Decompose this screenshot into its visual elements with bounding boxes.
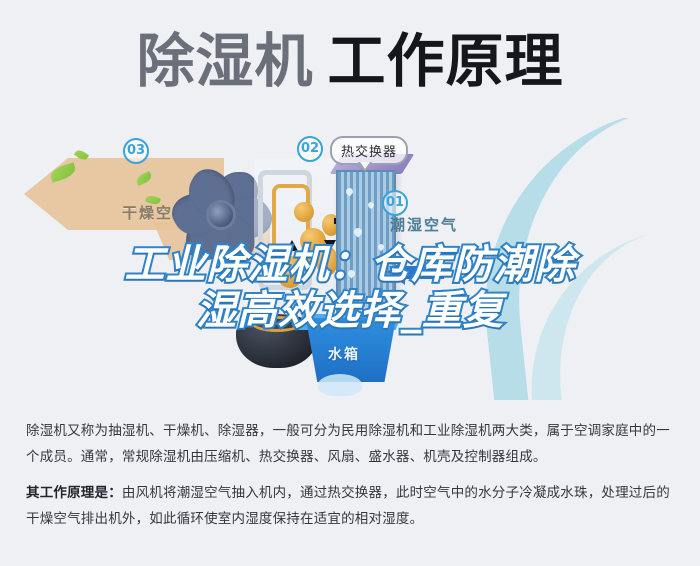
step-marker-03: 03: [123, 138, 149, 164]
fan-hub: [206, 200, 236, 230]
water-droplet-icon: [367, 201, 375, 209]
page-title-part1: 除湿机: [136, 27, 313, 95]
humid-air-label: 潮湿空气: [390, 214, 458, 235]
water-droplet-icon: [352, 226, 363, 237]
heat-exchanger-callout: 热交换器: [330, 136, 408, 165]
water-tank-label: 水箱: [328, 344, 360, 364]
article-paragraph-2-text: 由风机将潮湿空气抽入机内，通过热交换器，此时空气中的水分子冷凝成水珠，处理过后的…: [26, 485, 670, 527]
compressor-coil: [294, 202, 314, 222]
water-splash: [318, 374, 362, 396]
overlay-headline-line1: 工业除湿机：仓库防潮除: [0, 242, 700, 288]
page-title: 除湿机工作原理: [0, 26, 700, 96]
step-marker-01: 01: [382, 190, 408, 216]
overlay-headline: 工业除湿机：仓库防潮除 湿高效选择_重复: [0, 242, 700, 334]
page-title-part2: 工作原理: [328, 27, 564, 95]
water-droplet-icon: [345, 187, 355, 197]
article-paragraph-2: 其工作原理是：由风机将潮湿空气抽入机内，通过热交换器，此时空气中的水分子冷凝成水…: [26, 480, 676, 532]
article-paragraph-1: 除湿机又称为抽湿机、干燥机、除湿器，一般可分为民用除湿机和工业除湿机两大类，属于…: [26, 418, 676, 470]
article-body: 除湿机又称为抽湿机、干燥机、除湿器，一般可分为民用除湿机和工业除湿机两大类，属于…: [26, 418, 676, 532]
step-marker-02: 02: [297, 136, 323, 162]
page-root: 除湿机工作原理 干燥空气: [0, 0, 700, 566]
article-paragraph-2-label: 其工作原理是：: [26, 485, 122, 501]
overlay-headline-line2: 湿高效选择_重复: [0, 288, 700, 334]
